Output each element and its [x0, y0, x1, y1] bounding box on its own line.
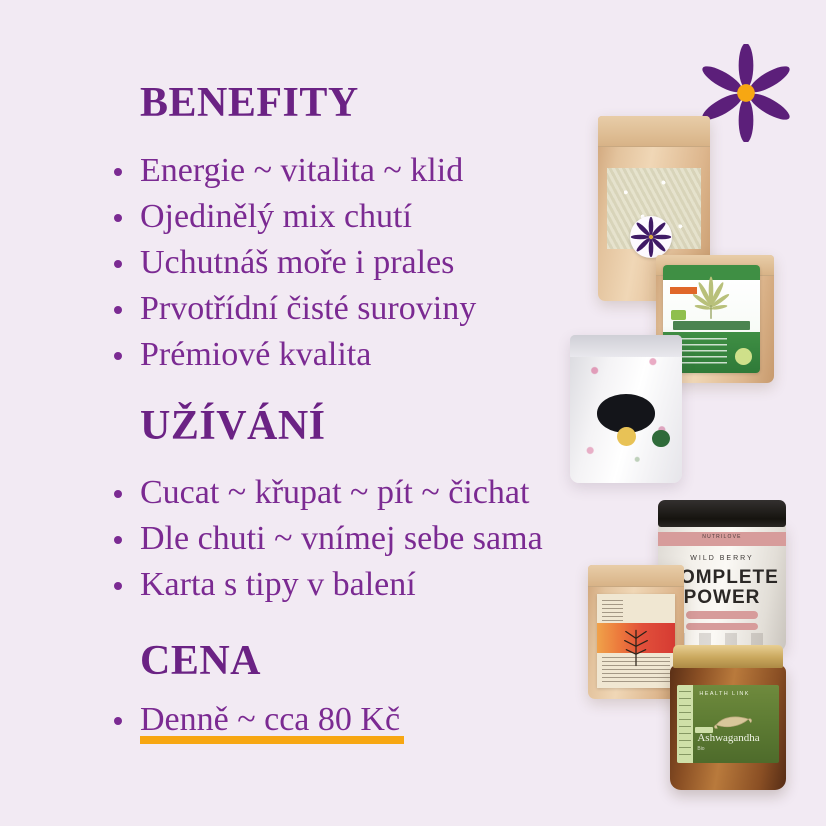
bullet-dot-icon: [114, 490, 122, 498]
section-heading-benefity: BENEFITY: [140, 82, 359, 124]
list-item-label: Prémiové kvalita: [140, 332, 371, 378]
list-item: Uchutnáš moře i prales: [112, 240, 476, 286]
list-item-label: Energie ~ vitalita ~ klid: [140, 148, 463, 194]
tub-flavor-label: WILD BERRY: [658, 555, 786, 562]
jar-lid: [673, 645, 782, 668]
copy-column: BENEFITY Energie ~ vitalita ~ klid Ojedi…: [0, 0, 560, 826]
bullet-dot-icon: [114, 717, 122, 725]
pouch-top-seal: [598, 116, 710, 147]
pouch-body: [570, 335, 682, 483]
gold-seal-icon: [617, 427, 636, 446]
bullet-dot-icon: [114, 306, 122, 314]
list-item: Dle chuti ~ vnímej sebe sama: [112, 516, 543, 562]
list-item: Prvotřídní čisté suroviny: [112, 286, 476, 332]
section-heading-cena: CENA: [140, 640, 261, 682]
list-item-label: Karta s tipy v balení: [140, 562, 416, 608]
tub-footnote-lines: [673, 633, 770, 646]
label-seal-badge-icon: [735, 348, 752, 365]
bullet-dot-icon: [114, 582, 122, 590]
hemp-leaf-icon: [683, 276, 739, 327]
pouch-flower-sticker: [630, 216, 672, 258]
pouch-top-seal: [588, 565, 684, 587]
list-item: Ojedinělý mix chutí: [112, 194, 476, 240]
list-item: Prémiové kvalita: [112, 332, 476, 378]
usage-list: Cucat ~ křupat ~ pít ~ čichat Dle chuti …: [112, 470, 543, 608]
price-item: Denně ~ cca 80 Kč: [112, 697, 400, 743]
product-poster: BENEFITY Energie ~ vitalita ~ klid Ojedi…: [0, 0, 826, 826]
jar-subtitle-label: Bio: [697, 746, 704, 752]
product-image-cluster: NUTRILOVE WILD BERRY COMPLETE POWER: [560, 0, 826, 826]
jar-label: HEALTH LINK Ashwagandha Bio: [677, 685, 779, 762]
bullet-dot-icon: [114, 260, 122, 268]
bullet-dot-icon: [114, 168, 122, 176]
bullet-dot-icon: [114, 214, 122, 222]
list-item-label: Uchutnáš moře i prales: [140, 240, 454, 286]
list-item: Karta s tipy v balení: [112, 562, 543, 608]
price-label: Denně ~ cca 80 Kč: [140, 697, 400, 743]
pouch-top-seal: [570, 335, 682, 357]
label-side-copy-lines: [679, 691, 691, 756]
label-copy-lines: [602, 600, 622, 621]
benefit-list: Energie ~ vitalita ~ klid Ojedinělý mix …: [112, 148, 476, 378]
price-list: Denně ~ cca 80 Kč: [112, 697, 400, 743]
tub-lid: [658, 500, 786, 527]
product-floral-pouch: [570, 335, 682, 483]
green-badge-icon: [652, 430, 670, 448]
bullet-dot-icon: [114, 352, 122, 360]
sunset-label: [597, 594, 676, 688]
label-body-copy-lines: [602, 657, 670, 683]
label-title-band: [673, 321, 750, 330]
jar-glass-body: HEALTH LINK Ashwagandha Bio: [670, 665, 786, 790]
list-item-label: Cucat ~ křupat ~ pít ~ čichat: [140, 470, 529, 516]
tub-claim-pill-1: [686, 611, 758, 619]
list-item-label: Ojedinělý mix chutí: [140, 194, 412, 240]
list-item-label: Dle chuti ~ vnímej sebe sama: [140, 516, 543, 562]
list-item-label: Prvotřídní čisté suroviny: [140, 286, 476, 332]
bullet-dot-icon: [114, 536, 122, 544]
product-ashwagandha-jar: HEALTH LINK Ashwagandha Bio: [670, 645, 786, 790]
list-item: Cucat ~ křupat ~ pít ~ čichat: [112, 470, 543, 516]
jar-title-label: Ashwagandha: [697, 733, 759, 745]
section-heading-uzivani: UŽÍVÁNÍ: [140, 405, 326, 447]
tub-brand-label: NUTRILOVE: [658, 534, 786, 540]
list-item: Energie ~ vitalita ~ klid: [112, 148, 476, 194]
jar-brand-label: HEALTH LINK: [699, 691, 749, 697]
tub-claim-pill-2: [686, 623, 758, 631]
